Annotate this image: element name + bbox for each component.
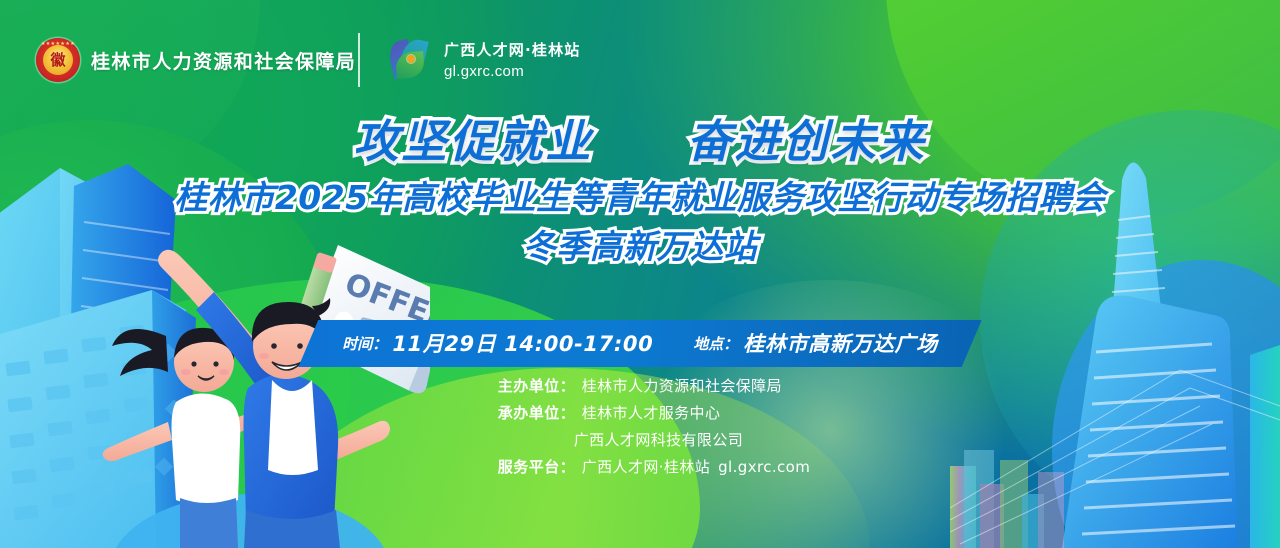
gxrc-name-label: 广西人才网·桂林站: [444, 39, 581, 60]
gxrc-logo-row[interactable]: 广西人才网·桂林站 gl.gxrc.com: [388, 36, 581, 82]
recruitment-poster: OFFER: [0, 0, 1280, 548]
platform-url[interactable]: gl.gxrc.com: [718, 458, 810, 476]
poster-header: ★★★★★★★ 徽 桂林市人力资源和社会保障局 广西人才网·桂林站 gl.gxr…: [0, 0, 1280, 120]
gov-logo-row: ★★★★★★★ 徽 桂林市人力资源和社会保障局: [36, 38, 356, 82]
host-value: 桂林市人力资源和社会保障局: [582, 375, 782, 396]
headline-block: 攻坚促就业 奋进创未来 桂林市2025年高校毕业生等青年就业服务攻坚行动专场招聘…: [0, 118, 1280, 267]
coorg-value: 桂林市人才服务中心: [582, 402, 721, 423]
coorg-colon: ：: [560, 402, 575, 423]
organizer-row-host: 主办单位 ： 桂林市人力资源和社会保障局: [470, 375, 811, 396]
event-subtitle-line2: 冬季高新万达站: [0, 228, 1280, 267]
main-slogan: 攻坚促就业 奋进创未来: [0, 118, 1280, 165]
event-subtitle-line1: 桂林市2025年高校毕业生等青年就业服务攻坚行动专场招聘会: [0, 179, 1280, 218]
event-info-bar: 时间： 11月29日 14:00-17:00 地点： 桂林市高新万达广场: [298, 320, 981, 367]
gxrc-url-label[interactable]: gl.gxrc.com: [444, 63, 581, 80]
slogan-part-1: 攻坚促就业: [353, 115, 593, 168]
organizers-block: 主办单位 ： 桂林市人力资源和社会保障局 承办单位 ： 桂林市人才服务中心 广西…: [470, 375, 811, 483]
host-label: 主办单位: [470, 375, 560, 396]
platform-value: 广西人才网·桂林站: [582, 456, 710, 477]
gxrc-text-block: 广西人才网·桂林站 gl.gxrc.com: [444, 39, 581, 80]
place-label: 地点：: [693, 333, 738, 354]
gov-emblem-icon: ★★★★★★★ 徽: [36, 38, 80, 82]
place-value: 桂林市高新万达广场: [743, 328, 937, 358]
time-label: 时间：: [342, 333, 387, 354]
slogan-part-2: 奋进创未来: [687, 115, 927, 168]
organizer-row-platform: 服务平台 ： 广西人才网·桂林站 gl.gxrc.com: [470, 456, 811, 477]
header-divider: [358, 33, 360, 87]
time-value: 11月29日 14:00-17:00: [392, 328, 653, 358]
platform-colon: ：: [560, 456, 575, 477]
organizer-row-coorg: 承办单位 ： 桂林市人才服务中心: [470, 402, 811, 423]
organizer-row-coorg2: 广西人才网科技有限公司: [470, 429, 811, 450]
gov-name-label: 桂林市人力资源和社会保障局: [91, 47, 356, 74]
coorg-label: 承办单位: [470, 402, 560, 423]
platform-label: 服务平台: [470, 456, 560, 477]
coorg-value-2: 广西人才网科技有限公司: [574, 429, 743, 450]
gxrc-swirl-logo-icon: [388, 36, 434, 82]
host-colon: ：: [560, 375, 575, 396]
